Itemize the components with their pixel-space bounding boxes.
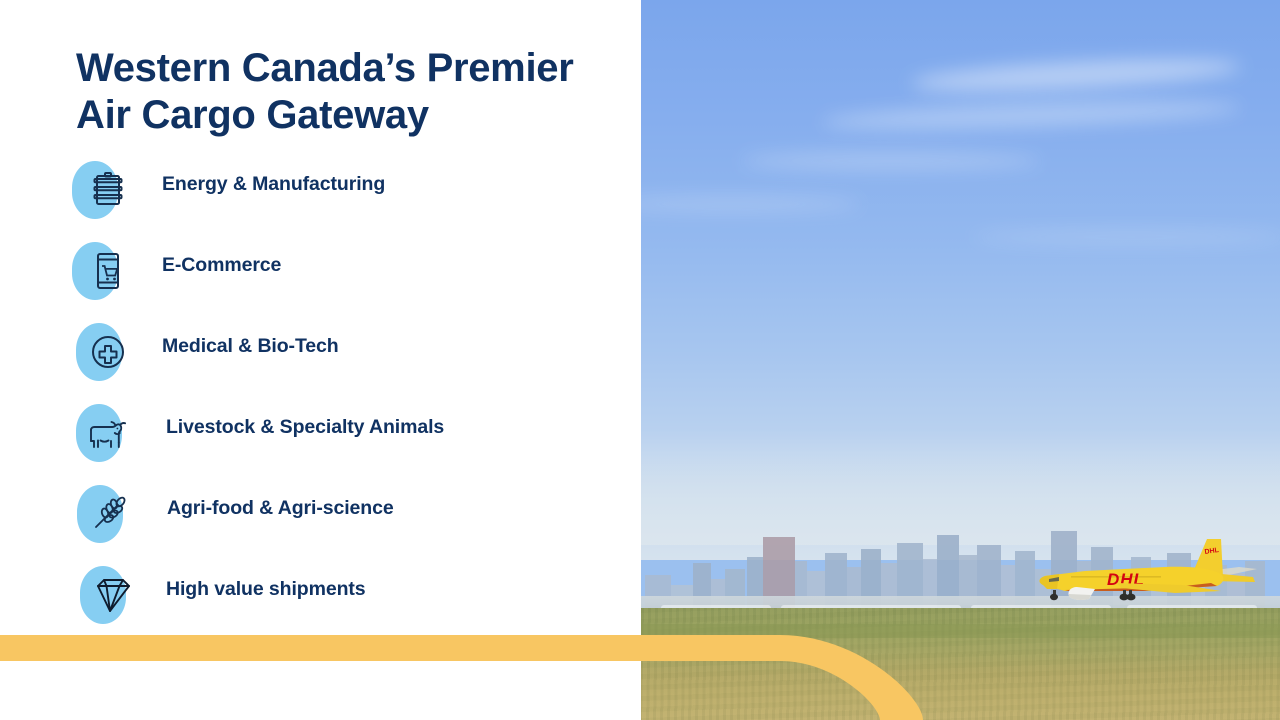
sector-label: Agri-food & Agri-science — [167, 497, 394, 520]
slide-canvas: DHL DHL — [0, 0, 1280, 720]
oil-barrel-icon — [84, 166, 132, 214]
sector-label: Livestock & Specialty Animals — [166, 416, 444, 439]
sector-label: E-Commerce — [162, 254, 281, 277]
sector-label: Energy & Manufacturing — [162, 173, 385, 196]
mobile-shopping-cart-icon — [84, 247, 132, 295]
diamond-icon — [86, 571, 134, 619]
list-item-e-commerce[interactable]: E-Commerce — [0, 236, 641, 317]
list-item-agrifood[interactable]: Agri-food & Agri-science — [0, 479, 641, 560]
sector-label: High value shipments — [166, 578, 366, 601]
wheat-stalk-icon — [85, 490, 133, 538]
sector-list: Energy & Manufacturing E-Commerce — [0, 155, 641, 641]
cow-icon — [84, 409, 132, 457]
grass-shadow-band — [641, 624, 1280, 638]
headline-line-2: Air Cargo Gateway — [76, 92, 616, 139]
hero-photo: DHL DHL — [641, 0, 1280, 720]
cloud-wisp — [971, 230, 1280, 244]
dhl-cargo-aircraft: DHL DHL — [1025, 533, 1279, 611]
content-panel: Western Canada’s Premier Air Cargo Gatew… — [0, 0, 641, 720]
headline-line-1: Western Canada’s Premier — [76, 45, 616, 92]
sector-label: Medical & Bio-Tech — [162, 335, 339, 358]
cloud-wisp — [741, 152, 1041, 170]
list-item-energy-manufacturing[interactable]: Energy & Manufacturing — [0, 155, 641, 236]
list-item-medical-biotech[interactable]: Medical & Bio-Tech — [0, 317, 641, 398]
list-item-livestock[interactable]: Livestock & Specialty Animals — [0, 398, 641, 479]
medical-cross-circle-icon — [84, 328, 132, 376]
list-item-high-value-shipments[interactable]: High value shipments — [0, 560, 641, 641]
page-title: Western Canada’s Premier Air Cargo Gatew… — [76, 45, 616, 139]
